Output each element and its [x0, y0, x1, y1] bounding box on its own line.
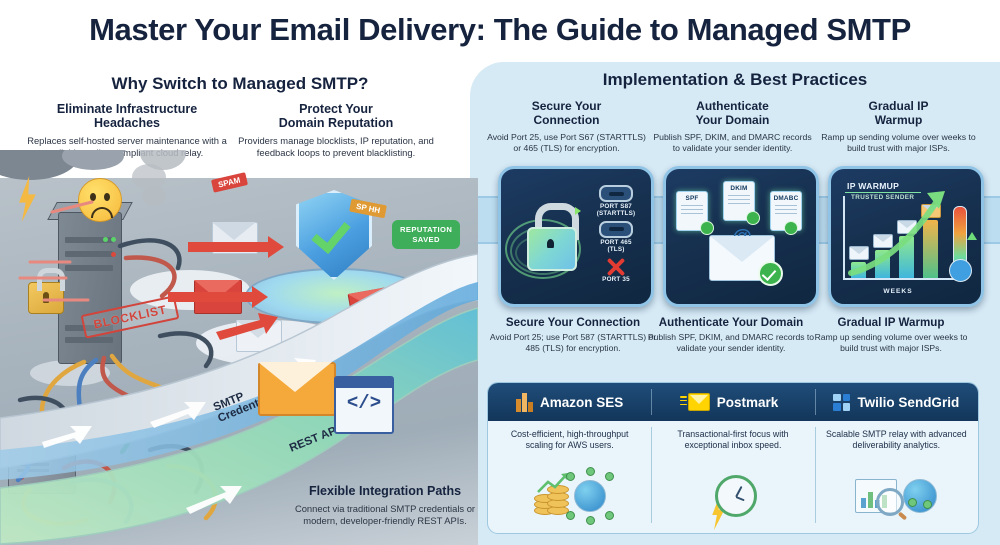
page-title: Master Your Email Delivery: The Guide to… — [0, 12, 1000, 48]
callout-desc: Connect via traditional SMTP credentials… — [290, 503, 480, 526]
clock-icon — [715, 475, 757, 517]
right-column-warmup: Gradual IP Warmup Ramp up sending volume… — [816, 99, 981, 154]
coins-icon — [534, 478, 568, 514]
api-code-window-icon: </> — [334, 376, 394, 434]
port-list: PORT S87 (STARTTLS) PORT 465 (TLS) PORT … — [585, 185, 647, 286]
caption-title: Secure Your Connection — [487, 316, 659, 329]
lock-keyhole — [547, 239, 554, 248]
right-column-title: Gradual IP Warmup — [816, 99, 981, 127]
port-label: PORT 35 — [585, 276, 647, 283]
provider-art-cost-scaling — [488, 465, 651, 527]
padlock-icon — [511, 191, 589, 283]
right-column-authenticate: Authenticate Your Domain Publish SPF, DK… — [650, 99, 815, 154]
amazon-ses-logo-icon — [516, 393, 533, 412]
provider-body-row: Cost-efficient, high-throughput scaling … — [488, 421, 978, 533]
provider-header-amazon-ses[interactable]: Amazon SES — [488, 383, 651, 421]
verified-seal-icon — [784, 221, 798, 235]
illustration-card-authenticate-domain: SPF DKIM DMABC @ — [663, 166, 819, 307]
provider-description: Cost-efficient, high-throughput scaling … — [497, 429, 642, 451]
postmark-logo-icon — [688, 393, 710, 411]
right-column-desc: Ramp up sending volume over weeks to bui… — [816, 132, 981, 154]
card-caption-secure: Secure Your Connection Avoid Port 25; us… — [487, 316, 659, 353]
outgoing-envelope-icon — [258, 362, 336, 416]
window-titlebar — [336, 378, 392, 388]
magnifier-icon — [876, 488, 904, 516]
caption-desc: Avoid Port 25; use Port 587 (STARTTLS) o… — [487, 332, 659, 353]
blocked-x-icon — [603, 257, 629, 275]
provider-header-twilio-sendgrid[interactable]: Twilio SendGrid — [815, 383, 978, 421]
up-arrow-icon — [967, 232, 977, 240]
provider-comparison-box: Amazon SES Postmark Twilio SendGrid Cost… — [487, 382, 979, 534]
right-column-title: Secure Your Connection — [484, 99, 649, 127]
caption-title: Gradual IP Warmup — [805, 316, 977, 329]
provider-cell-amazon-ses: Cost-efficient, high-throughput scaling … — [488, 421, 651, 533]
record-label: SPF — [677, 195, 707, 202]
caption-desc: Ramp up sending volume over weeks to bui… — [805, 332, 977, 353]
provider-header-row: Amazon SES Postmark Twilio SendGrid — [488, 383, 978, 421]
provider-cell-postmark: Transactional-first focus with exception… — [651, 421, 814, 533]
left-column-title: Protect Your Domain Reputation — [228, 102, 444, 130]
right-section-heading: Implementation & Best Practices — [470, 70, 1000, 90]
port-item-blocked: PORT 35 — [585, 257, 647, 283]
provider-art-speed — [651, 465, 814, 527]
caption-title: Authenticate Your Domain — [645, 316, 817, 329]
thermometer-bulb — [949, 259, 972, 282]
right-column-desc: Avoid Port 25, use Port S67 (STARTTLS) o… — [484, 132, 649, 154]
verified-seal-icon — [746, 211, 760, 225]
provider-name: Twilio SendGrid — [857, 395, 959, 410]
provider-cell-twilio-sendgrid: Scalable SMTP relay with advanced delive… — [815, 421, 978, 533]
code-brackets-icon: </> — [336, 392, 392, 414]
provider-header-postmark[interactable]: Postmark — [651, 383, 814, 421]
provider-description: Transactional-first focus with exception… — [660, 429, 805, 451]
flexible-integration-callout: Flexible Integration Paths Connect via t… — [290, 484, 480, 526]
record-label: DMABC — [771, 195, 801, 202]
envelope-flap — [710, 236, 774, 262]
port-chip-icon — [599, 185, 633, 202]
infographic-canvas: Master Your Email Delivery: The Guide to… — [0, 0, 1000, 545]
record-label: DKIM — [724, 185, 754, 192]
checkmark-icon — [758, 261, 783, 286]
callout-title: Flexible Integration Paths — [290, 484, 480, 498]
illustration-card-secure-connection: PORT S87 (STARTTLS) PORT 465 (TLS) PORT … — [498, 166, 654, 307]
port-item-tls: PORT 465 (TLS) — [585, 221, 647, 254]
provider-description: Scalable SMTP relay with advanced delive… — [824, 429, 969, 451]
warmup-x-axis-label: WEEKS — [843, 288, 953, 295]
provider-art-analytics — [815, 465, 978, 527]
illustration-card-ip-warmup: IP WARMUP TRUSTED SENDER WEEKS — [828, 166, 984, 307]
port-label: PORT S87 (STARTTLS) — [585, 203, 647, 218]
lock-body — [527, 227, 577, 271]
right-column-desc: Publish SPF, DKIM, and DMARC records to … — [650, 132, 815, 154]
card-caption-warmup: Gradual IP Warmup Ramp up sending volume… — [805, 316, 977, 353]
caption-desc: Publish SPF, DKIM, and DMARC records to … — [645, 332, 817, 353]
provider-name: Amazon SES — [540, 395, 623, 410]
right-column-secure: Secure Your Connection Avoid Port 25, us… — [484, 99, 649, 154]
left-column-title: Eliminate Infrastructure Headaches — [22, 102, 232, 130]
port-label: PORT 465 (TLS) — [585, 239, 647, 254]
twilio-sendgrid-logo-icon — [833, 394, 850, 411]
network-globe-icon — [574, 480, 606, 512]
card-caption-authenticate: Authenticate Your Domain Publish SPF, DK… — [645, 316, 817, 353]
analytics-dashboard-icon — [855, 479, 897, 513]
global-reach-globe-icon — [903, 479, 937, 513]
port-item-starttls: PORT S87 (STARTTLS) — [585, 185, 647, 218]
left-section-heading: Why Switch to Managed SMTP? — [20, 74, 460, 94]
provider-name: Postmark — [717, 395, 779, 410]
port-chip-icon — [599, 221, 633, 238]
right-column-title: Authenticate Your Domain — [650, 99, 815, 127]
